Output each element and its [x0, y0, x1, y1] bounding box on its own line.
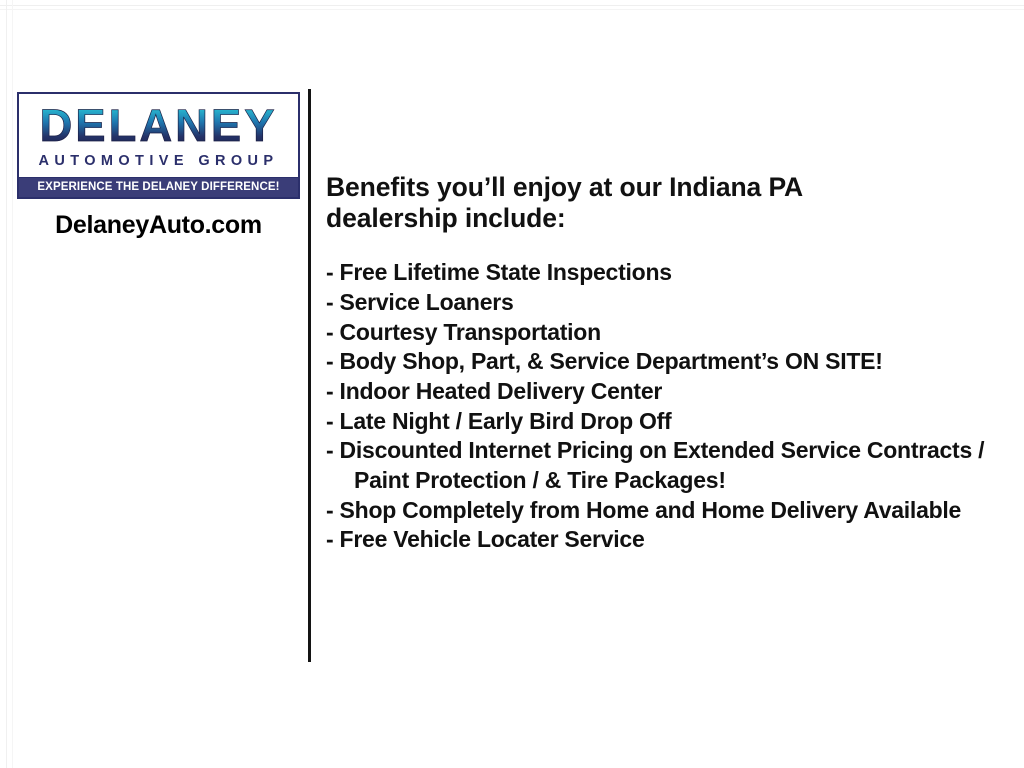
delaney-wordmark-text: DELANEY: [39, 100, 277, 151]
delaney-wordmark-icon: DELANEY: [25, 99, 292, 153]
benefits-list: - Free Lifetime State Inspections - Serv…: [326, 258, 1004, 555]
benefit-text: - Shop Completely from Home and Home Del…: [326, 497, 961, 523]
benefit-text-continuation: Paint Protection / & Tire Packages!: [326, 466, 1004, 496]
benefit-text: - Free Lifetime State Inspections: [326, 259, 672, 285]
benefit-text: - Discounted Internet Pricing on Extende…: [326, 437, 984, 463]
slide-canvas: DELANEY AUTOMOTIVE GROUP EXPERIENCE THE …: [0, 0, 1024, 768]
logo-inner-white-area: DELANEY AUTOMOTIVE GROUP: [19, 94, 298, 177]
list-item: - Courtesy Transportation: [326, 318, 1004, 348]
scan-edge-line-top-secondary: [0, 9, 1024, 10]
benefit-text: - Service Loaners: [326, 289, 514, 315]
benefits-content: Benefits you’ll enjoy at our Indiana PA …: [326, 172, 1004, 555]
scan-edge-line-left: [6, 0, 7, 768]
list-item: - Indoor Heated Delivery Center: [326, 377, 1004, 407]
list-item: - Shop Completely from Home and Home Del…: [326, 496, 1004, 526]
list-item: - Discounted Internet Pricing on Extende…: [326, 436, 1004, 495]
page-title: Benefits you’ll enjoy at our Indiana PA …: [326, 172, 1004, 233]
dealer-logo: DELANEY AUTOMOTIVE GROUP EXPERIENCE THE …: [17, 92, 300, 199]
list-item: - Service Loaners: [326, 288, 1004, 318]
list-item: - Free Vehicle Locater Service: [326, 525, 1004, 555]
scan-edge-line-top: [0, 5, 1024, 6]
dealer-website-text: DelaneyAuto.com: [17, 213, 300, 238]
logo-tagline-banner: EXPERIENCE THE DELANEY DIFFERENCE!: [19, 177, 298, 198]
scan-edge-line-left-secondary: [12, 0, 13, 768]
list-item: - Late Night / Early Bird Drop Off: [326, 407, 1004, 437]
logo-subtitle: AUTOMOTIVE GROUP: [25, 153, 292, 174]
benefit-text: - Free Vehicle Locater Service: [326, 526, 645, 552]
list-item: - Body Shop, Part, & Service Department’…: [326, 347, 1004, 377]
logo-panel: DELANEY AUTOMOTIVE GROUP EXPERIENCE THE …: [17, 92, 300, 238]
benefit-text: - Body Shop, Part, & Service Department’…: [326, 348, 883, 374]
benefit-text: - Late Night / Early Bird Drop Off: [326, 408, 671, 434]
vertical-divider: [308, 89, 311, 662]
logo-tagline-text: EXPERIENCE THE DELANEY DIFFERENCE!: [19, 182, 298, 194]
benefit-text: - Indoor Heated Delivery Center: [326, 378, 662, 404]
list-item: - Free Lifetime State Inspections: [326, 258, 1004, 288]
benefit-text: - Courtesy Transportation: [326, 319, 601, 345]
